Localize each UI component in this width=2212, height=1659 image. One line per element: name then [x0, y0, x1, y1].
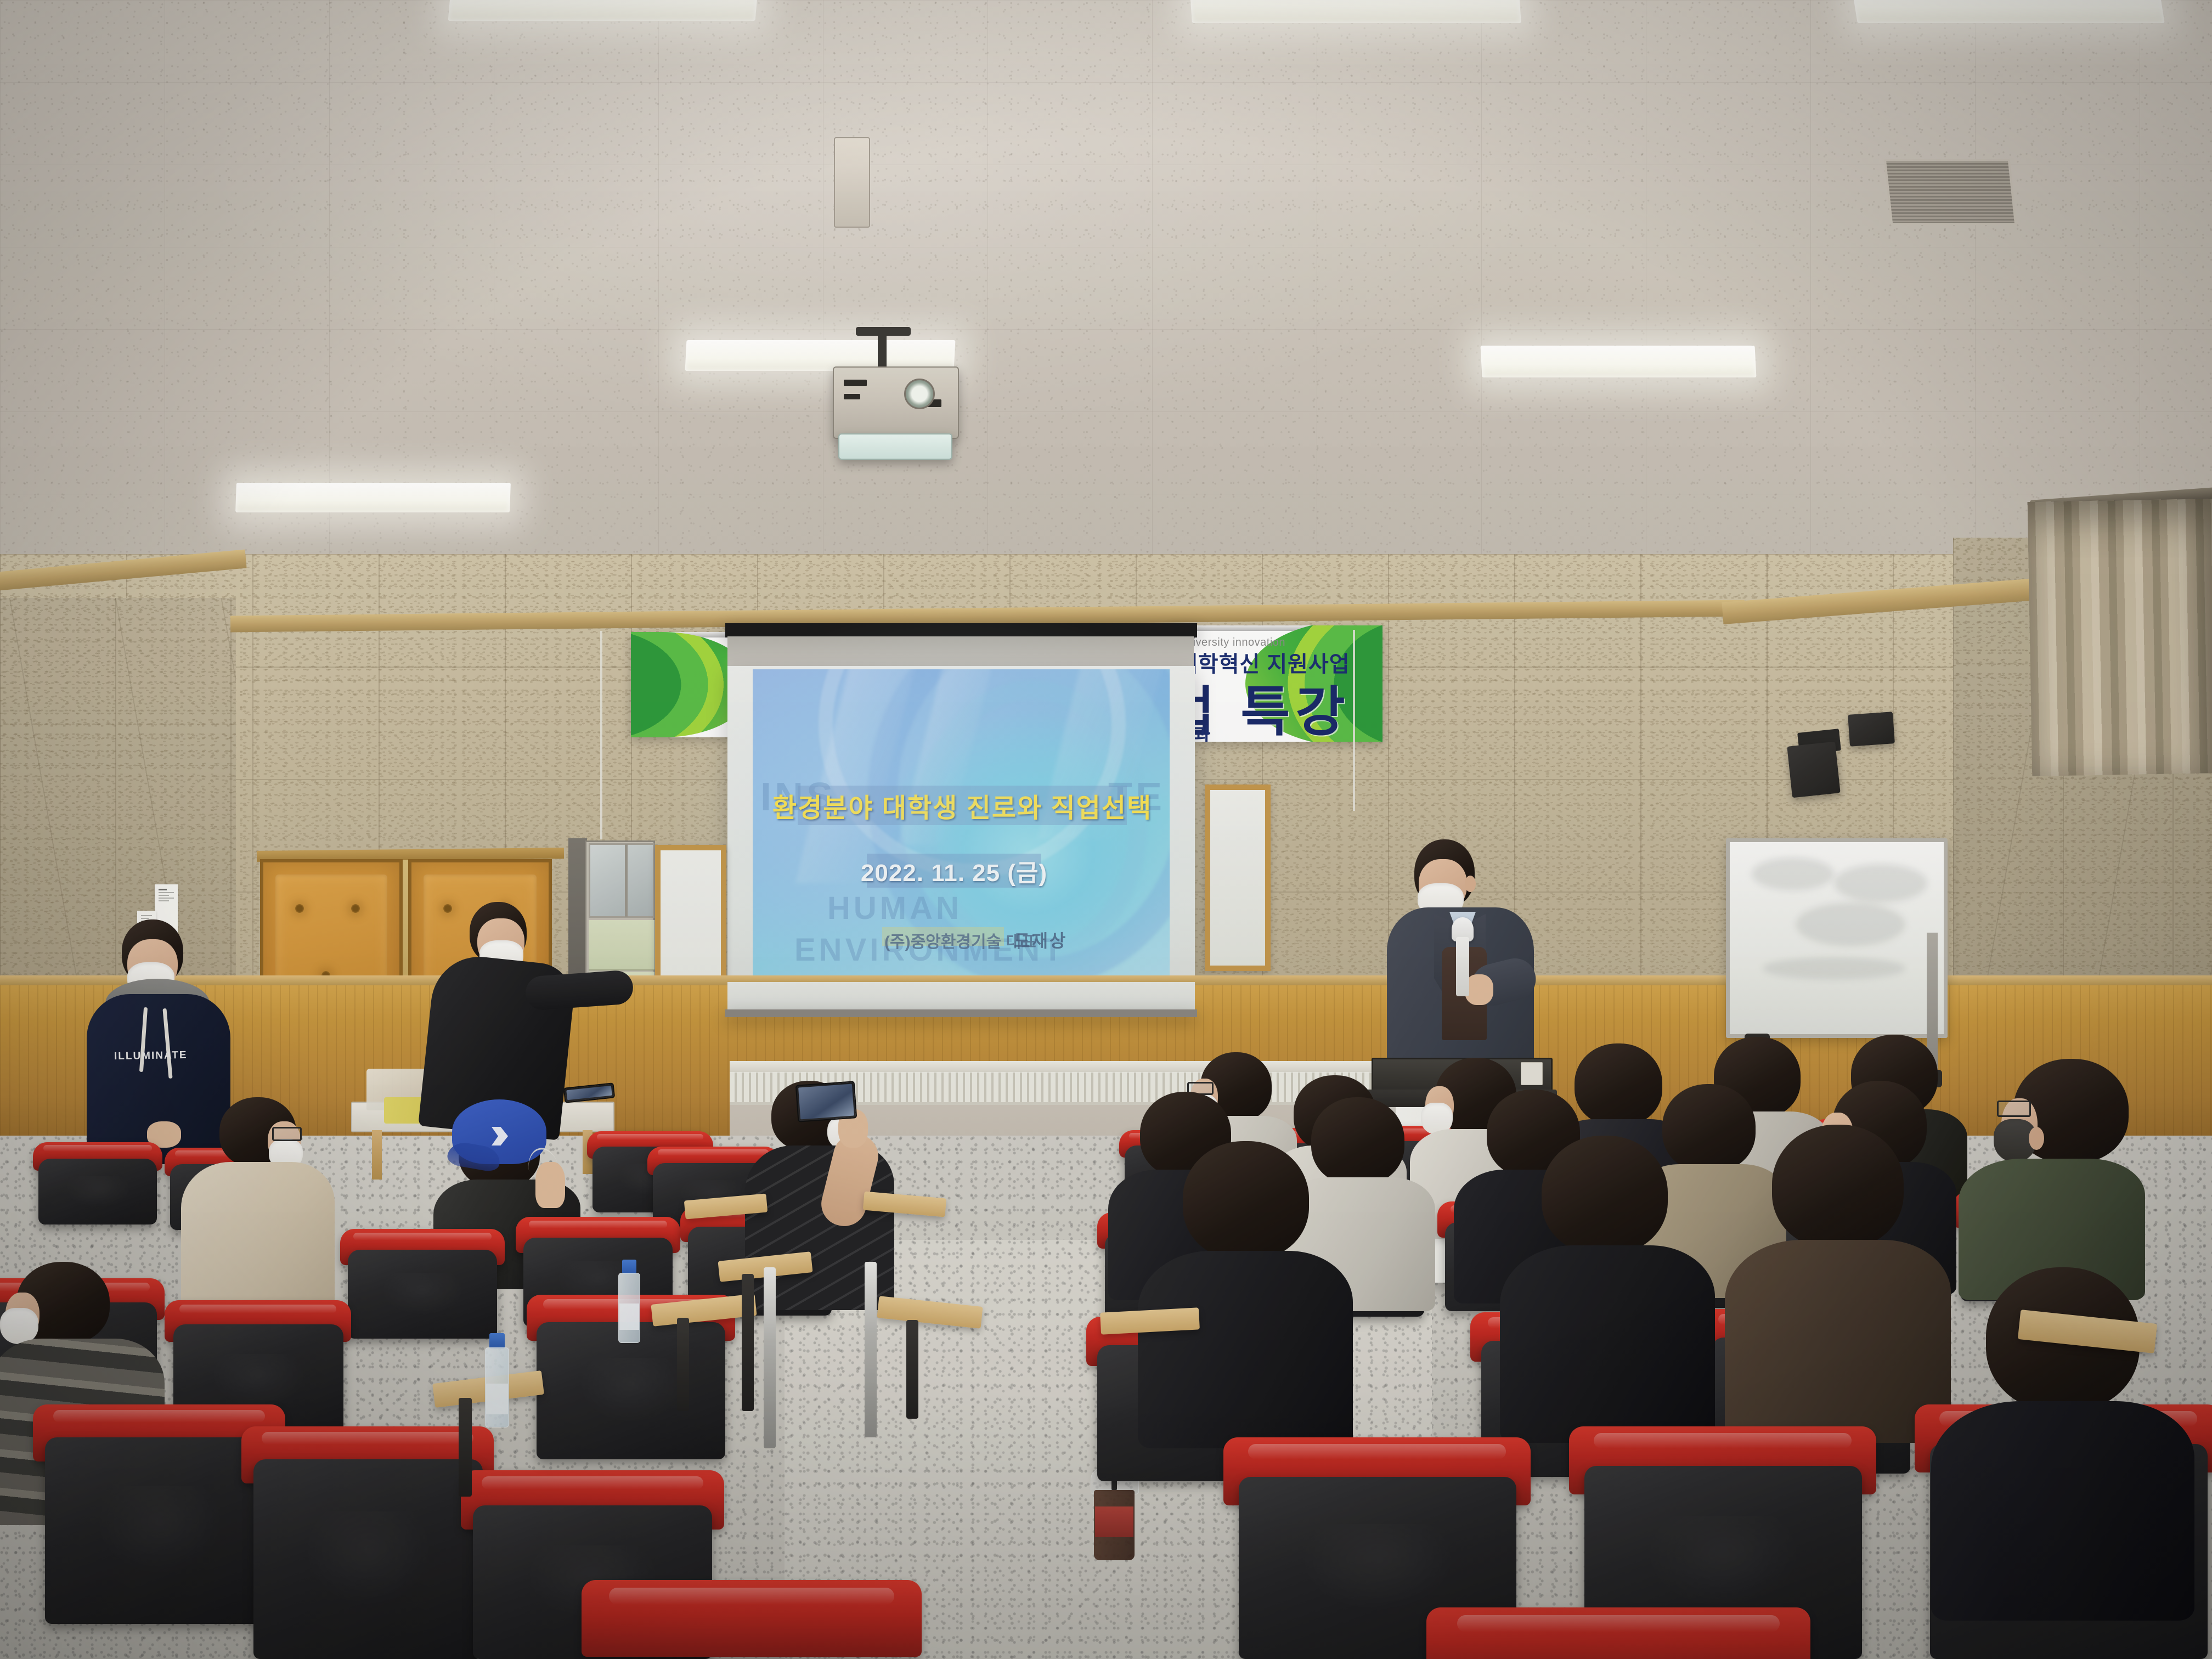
door-tuft [351, 904, 360, 913]
lecture-hall-photo: 환 University innovation 대학혁신 지원사업 업 특강 학… [0, 0, 2212, 1659]
projector-lens-icon [904, 379, 935, 409]
seat-backrest [253, 1459, 483, 1659]
armrest-post [906, 1320, 918, 1419]
person-student-cream-coat [181, 1097, 340, 1317]
whiteboard-erased-marks [1752, 857, 1834, 890]
water-bottle[interactable] [483, 1333, 511, 1427]
hanging-cable [1353, 630, 1355, 811]
wall-mounted-speaker [1787, 742, 1840, 798]
head [1772, 1125, 1904, 1249]
banner-right: University innovation 대학혁신 지원사업 업 특강 학과 [1169, 625, 1383, 742]
whiteboard-erased-marks [1796, 902, 1905, 946]
olive-student-glasses [1997, 1101, 2031, 1117]
projection-screen-housing [725, 623, 1197, 637]
seat-frame-rail [764, 1267, 776, 1448]
mobile-whiteboard [1726, 838, 1948, 1038]
person-student-olive-jacket [1970, 1059, 2151, 1300]
cup-sleeve [1095, 1506, 1133, 1537]
black-jacket [1138, 1251, 1353, 1448]
bottle-label [486, 1384, 508, 1414]
whiteboard-erased-marks [1834, 864, 1927, 902]
bottle-cap [489, 1333, 505, 1348]
head [1542, 1136, 1668, 1254]
hoodie-graphic-text: ILLUMINATE [114, 1049, 188, 1063]
projector-underside [838, 433, 952, 460]
notice-body-line [159, 898, 174, 899]
smoke-detector-icon [834, 137, 870, 228]
projection-screen-bottom-bar [725, 1009, 1197, 1017]
person-foreground-right-c [1734, 1125, 1942, 1443]
notice-body-line [159, 900, 169, 901]
notice-heading-line [159, 889, 167, 890]
notice-body-line [141, 918, 149, 919]
cream-coat-glasses [272, 1127, 302, 1141]
hanging-cable [600, 631, 602, 839]
slide-ghost-text-human: HUMAN [827, 890, 962, 927]
seat-left-block[interactable] [340, 1229, 505, 1339]
staff-arm-extended [524, 969, 634, 1011]
slide-date-highlight: 2022. 11. 25 (금) [867, 854, 1041, 888]
seat-backrest [348, 1250, 497, 1339]
seat-cushion-rim [1426, 1607, 1810, 1659]
seat-bottom-edge[interactable] [582, 1580, 922, 1659]
dark-jacket [1931, 1401, 2194, 1621]
projection-screen-top-band [727, 636, 1194, 667]
seat-bottom-edge[interactable] [1426, 1607, 1810, 1659]
armrest-post [677, 1318, 689, 1411]
projection-screen: INS TE HUMAN ENVIRONMENT 환경분야 대학생 진로와 직업… [727, 666, 1195, 1006]
seat-backrest [45, 1437, 274, 1624]
wall-outlet-icon [1521, 1062, 1543, 1085]
projected-slide: INS TE HUMAN ENVIRONMENT 환경분야 대학생 진로와 직업… [753, 669, 1170, 998]
notice-body-line [141, 915, 152, 916]
cream-coat-body [181, 1162, 335, 1316]
ceiling-light [448, 0, 759, 21]
seat-foreground-left[interactable] [241, 1426, 494, 1659]
wall-mounted-speaker-secondary [1848, 712, 1895, 747]
table-leg [372, 1130, 382, 1180]
water-bottle[interactable] [617, 1260, 642, 1343]
ceiling-light [1189, 0, 1521, 23]
seat-cushion-rim [582, 1580, 922, 1657]
dark-hoodie [1500, 1245, 1715, 1443]
smartphone-recording[interactable] [795, 1081, 857, 1122]
armrest-post [459, 1398, 472, 1497]
notice-body-line [159, 892, 174, 893]
smartphone-screen [798, 1084, 854, 1120]
cap-student-hand [535, 1162, 565, 1208]
door-tuft [295, 904, 304, 913]
ceiling-light [235, 483, 511, 512]
ceiling-light [1851, 0, 2164, 23]
projector-mount-arm [856, 327, 911, 336]
ceiling-light [1480, 346, 1756, 377]
ceiling [0, 0, 2212, 647]
projection-screen-lower [727, 982, 1195, 1013]
window-curtain [2028, 499, 2212, 776]
slide-presenter-name: 도재상 [1014, 927, 1067, 952]
person-foreground-right-b [1509, 1136, 1706, 1443]
handheld-microphone-body [1456, 937, 1469, 996]
wall-whiteboard-right [1205, 785, 1271, 971]
notice-body-line [159, 895, 169, 896]
whiteboard-erased-marks [1763, 957, 1905, 979]
head [1183, 1141, 1309, 1260]
speaker-ear [1465, 876, 1476, 892]
bottle-cap [622, 1260, 636, 1274]
seat-backrest [38, 1159, 157, 1224]
slide-title: 환경분야 대학생 진로와 직업선택 [772, 786, 1152, 825]
olive-student-ear [2029, 1127, 2044, 1150]
seat-row-far-left[interactable] [33, 1142, 162, 1224]
person-foreground-right-a [1147, 1141, 1344, 1448]
ceiling-projector [833, 366, 959, 439]
ceiling-tile-grid [0, 0, 2212, 647]
bottle-label [619, 1304, 639, 1330]
seat-frame-rail [865, 1262, 877, 1437]
slide-date: 2022. 11. 25 (금) [861, 853, 1047, 888]
hvac-vent-icon [1884, 159, 2017, 225]
armrest-post [742, 1274, 754, 1411]
slide-title-highlight: 환경분야 대학생 진로와 직업선택 [798, 786, 1127, 825]
striped-student-mask [0, 1308, 38, 1344]
